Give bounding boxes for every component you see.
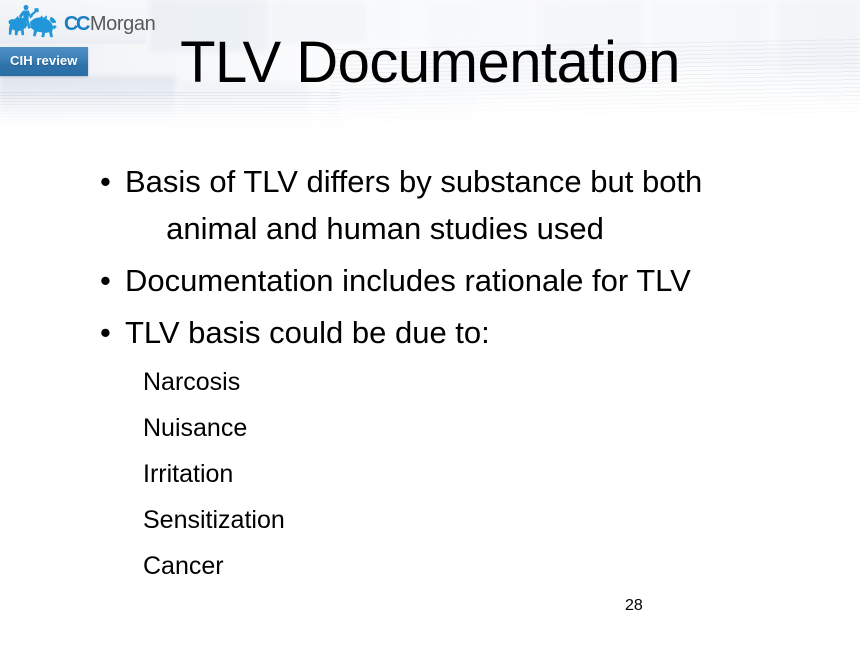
- sub-item-list: Narcosis Nuisance Irritation Sensitizati…: [0, 359, 860, 589]
- list-item: Nuisance: [0, 405, 860, 451]
- list-item: Cancer: [0, 543, 860, 589]
- slide-body: • Basis of TLV differs by substance but …: [0, 158, 860, 589]
- bullet-marker-icon: •: [100, 257, 111, 304]
- header-louvre-lines-left: [0, 92, 340, 126]
- bullet-marker-icon: •: [100, 158, 111, 205]
- bullet-text: TLV basis could be due to:: [100, 309, 820, 356]
- page-number: 28: [625, 596, 643, 616]
- bullet-item: • TLV basis could be due to:: [0, 309, 860, 356]
- bullet-line: • Documentation includes rationale for T…: [0, 257, 860, 304]
- bullet-marker-icon: •: [100, 309, 111, 356]
- bullet-line: • TLV basis could be due to:: [0, 309, 860, 356]
- bullet-text: Basis of TLV differs by substance but bo…: [100, 158, 820, 205]
- bullet-item: • Basis of TLV differs by substance but …: [0, 158, 860, 252]
- list-item: Narcosis: [0, 359, 860, 405]
- bullet-item: • Documentation includes rationale for T…: [0, 257, 860, 304]
- bullet-text: Documentation includes rationale for TLV: [100, 257, 820, 304]
- presentation-slide: CCMorgan CIH review TLV Documentation • …: [0, 0, 860, 650]
- list-item: Irritation: [0, 451, 860, 497]
- bullet-line: • Basis of TLV differs by substance but …: [0, 158, 860, 205]
- bullet-text-continuation: animal and human studies used: [0, 205, 860, 252]
- list-item: Sensitization: [0, 497, 860, 543]
- slide-title: TLV Documentation: [0, 30, 860, 96]
